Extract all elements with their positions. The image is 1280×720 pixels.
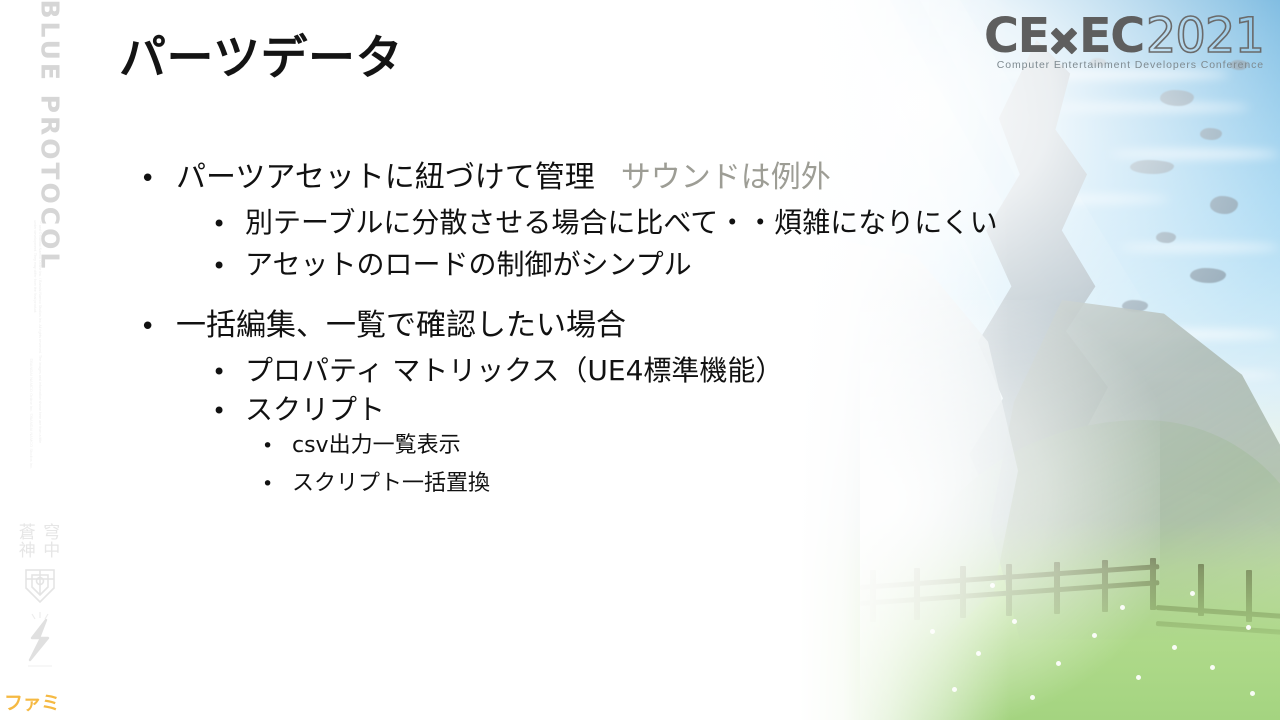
bullet-level-2: •アセットのロードの制御がシンプル xyxy=(212,243,692,283)
bullet-marker-icon: • xyxy=(212,397,245,425)
bullet-text: csv出力一覧表示 xyxy=(292,427,461,459)
bullet-marker-icon: • xyxy=(140,312,176,342)
presentation-slide: BLUE PROTOCOL ™ and © Bandai Namco Onlin… xyxy=(0,0,1280,720)
bullet-text: アセットのロードの制御がシンプル xyxy=(245,243,692,283)
bullet-level-3: •csv出力一覧表示 xyxy=(262,427,461,459)
slide-body: •パーツアセットに紐づけて管理サウンドは例外•別テーブルに分散させる場合に比べて… xyxy=(0,0,1280,720)
bullet-text: スクリプト一括置換 xyxy=(292,465,490,497)
bullet-marker-icon: • xyxy=(212,210,245,238)
bullet-marker-icon: • xyxy=(262,473,292,495)
bullet-note: サウンドは例外 xyxy=(621,152,831,196)
bullet-level-3: •スクリプト一括置換 xyxy=(262,465,490,497)
bullet-level-2: •スクリプト xyxy=(212,388,385,428)
bullet-level-1: •パーツアセットに紐づけて管理サウンドは例外 xyxy=(140,152,831,196)
bullet-marker-icon: • xyxy=(262,435,292,457)
bullet-text: プロパティ マトリックス（UE4標準機能） xyxy=(245,349,783,389)
bullet-level-1: •一括編集、一覧で確認したい場合 xyxy=(140,300,626,344)
bullet-text: 一括編集、一覧で確認したい場合 xyxy=(176,300,626,344)
bullet-level-2: •別テーブルに分散させる場合に比べて・・煩雑になりにくい xyxy=(212,201,998,241)
bullet-marker-icon: • xyxy=(212,358,245,386)
bullet-text: パーツアセットに紐づけて管理 xyxy=(176,152,595,196)
bullet-marker-icon: • xyxy=(212,252,245,280)
bullet-marker-icon: • xyxy=(140,164,176,194)
bullet-text: 別テーブルに分散させる場合に比べて・・煩雑になりにくい xyxy=(245,201,998,241)
bullet-level-2: •プロパティ マトリックス（UE4標準機能） xyxy=(212,349,783,389)
bullet-text: スクリプト xyxy=(245,388,385,428)
